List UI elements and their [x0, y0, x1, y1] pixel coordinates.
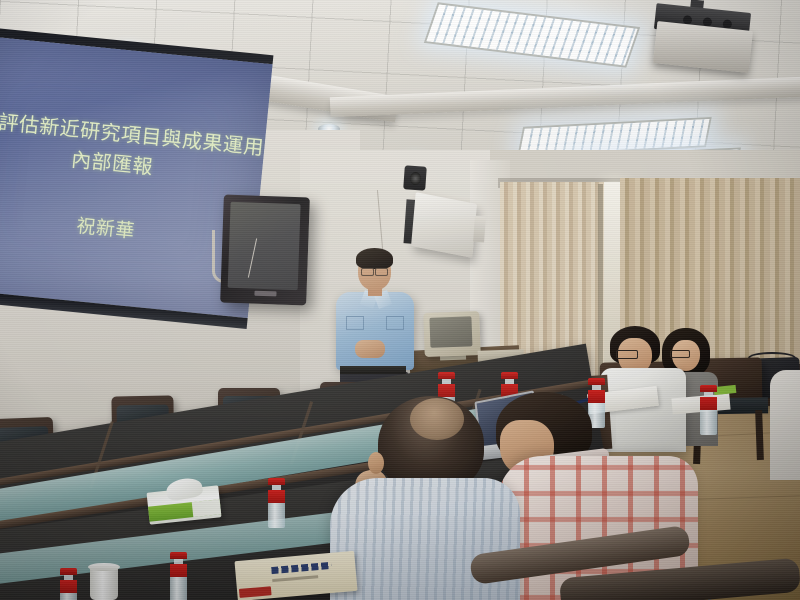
tv-logo [254, 291, 276, 297]
presenter-belt [340, 366, 406, 374]
bottle-body [700, 398, 717, 435]
bottle-body [60, 581, 77, 600]
presenter-hands [355, 340, 385, 358]
bottle-cap [588, 378, 605, 385]
paper-cup-rim [88, 563, 120, 571]
bottle-cap [60, 568, 77, 575]
water-bottle[interactable] [268, 478, 285, 528]
water-bottle[interactable] [60, 568, 77, 600]
eyeglasses-icon [375, 268, 388, 276]
bottle-label [268, 490, 285, 503]
speaker-cone-icon [410, 172, 422, 186]
paper-cup[interactable] [90, 566, 118, 600]
bottle-cap [170, 552, 187, 559]
attendee-striped-shirt-scalp [410, 398, 464, 440]
water-bottle[interactable] [700, 385, 717, 435]
bottle-label [588, 390, 605, 403]
booklet-spine-band [239, 586, 272, 598]
shirt-pocket-right [386, 316, 404, 330]
eyeglasses-icon [361, 268, 374, 276]
presenter-hair [356, 248, 393, 269]
crt-monitor-screen [429, 316, 472, 347]
bottle-label [170, 564, 187, 577]
eyeglasses-icon [616, 350, 638, 359]
crt-monitor[interactable] [423, 311, 481, 357]
covered-unit [411, 192, 477, 258]
tissue-box-panel [192, 499, 221, 517]
wall-speaker [403, 165, 427, 190]
bottle-cap [700, 385, 717, 392]
booklet-subtitle-text [272, 575, 318, 582]
booklet-title-text [271, 562, 331, 574]
attendee-striped-shirt-ear [368, 452, 384, 474]
bottle-cap [268, 478, 285, 485]
bottle-label [60, 580, 77, 593]
attendee-far-right-partial [770, 370, 800, 480]
tv-screen [228, 202, 301, 290]
bottle-body [268, 491, 285, 528]
wall-mounted-tv[interactable] [220, 195, 310, 306]
eyeglasses-icon [670, 350, 690, 358]
bottle-label [438, 384, 455, 397]
bottle-cap [501, 372, 518, 379]
bottle-body [170, 565, 187, 600]
shirt-pocket-left [346, 316, 364, 330]
bottle-cap [438, 372, 455, 379]
bottle-label [700, 397, 717, 410]
presenter-standing [336, 292, 414, 370]
conference-room-photo: 語文評估新近研究項目與成果運用 內部匯報 祝新華 [0, 0, 800, 600]
wall-plate [473, 216, 486, 243]
water-bottle[interactable] [170, 552, 187, 600]
